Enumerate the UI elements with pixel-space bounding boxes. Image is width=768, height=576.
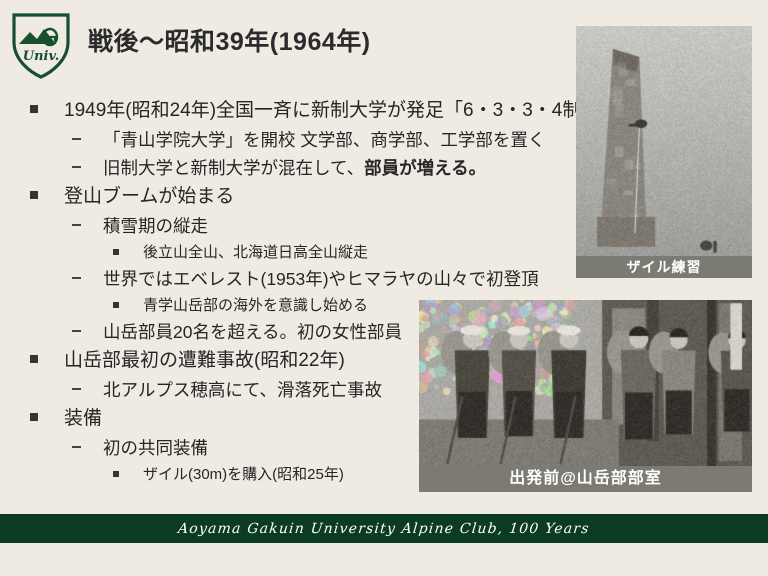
square-marker-icon bbox=[30, 96, 64, 126]
bullet-text: 世界ではエベレスト(1953年)やヒマラヤの山々で初登頂 bbox=[103, 265, 539, 293]
square-marker-icon bbox=[113, 240, 143, 265]
figure-caption-rope-practice: ザイル練習 bbox=[576, 256, 752, 278]
square-marker-icon bbox=[30, 404, 64, 434]
dash-marker-icon bbox=[72, 376, 103, 404]
page-title: 戦後～昭和39年(1964年) bbox=[88, 22, 371, 58]
bullet-text: ザイル(30m)を購入(昭和25年) bbox=[143, 462, 344, 487]
bullet-text: 装備 bbox=[64, 404, 102, 434]
bullet-item-l1: 1949年(昭和24年)全国一斉に新制大学が発足「6・3・3・4制」 bbox=[30, 96, 590, 126]
square-marker-icon bbox=[113, 462, 143, 487]
bullet-text: 後立山全山、北海道日高全山縦走 bbox=[143, 240, 368, 265]
bullet-text: 北アルプス穂高にて、滑落死亡事故 bbox=[103, 376, 382, 404]
dash-marker-icon bbox=[72, 154, 103, 182]
bullet-text: 初の共同装備 bbox=[103, 434, 208, 462]
bullet-text: 1949年(昭和24年)全国一斉に新制大学が発足「6・3・3・4制」 bbox=[64, 96, 600, 126]
bullet-text: 山岳部員20名を超える。初の女性部員 bbox=[103, 318, 402, 346]
dash-marker-icon bbox=[72, 318, 103, 346]
footer-text: Aoyama Gakuin University Alpine Club, 10… bbox=[177, 521, 590, 537]
figure-rope-practice: ザイル練習 bbox=[576, 26, 752, 278]
bullet-text: 「青山学院大学」を開校 文学部、商学部、工学部を置く bbox=[103, 126, 545, 154]
square-marker-icon bbox=[30, 346, 64, 376]
bullet-text: 旧制大学と新制大学が混在して、部員が増える。 bbox=[103, 154, 486, 182]
figure-caption-before-departure: 出発前@山岳部部室 bbox=[419, 466, 752, 492]
figure-before-departure: 出発前@山岳部部室 bbox=[419, 300, 752, 492]
bullet-text: 登山ブームが始まる bbox=[64, 182, 234, 212]
bullet-text: 積雪期の縦走 bbox=[103, 212, 208, 240]
bullet-text-emphasis: 部員が増える。 bbox=[364, 158, 486, 178]
photo-before-departure bbox=[419, 300, 752, 466]
footer-band: Aoyama Gakuin University Alpine Club, 10… bbox=[0, 514, 768, 543]
shield-icon: Univ. bbox=[10, 10, 72, 80]
bullet-item-l1: 登山ブームが始まる bbox=[30, 182, 590, 212]
bullet-text: 青学山岳部の海外を意識し始める bbox=[143, 293, 368, 318]
photo-rope-practice bbox=[576, 26, 752, 256]
bullet-text: 山岳部最初の遭難事故(昭和22年) bbox=[64, 346, 345, 376]
bullet-item-l2: 旧制大学と新制大学が混在して、部員が増える。 bbox=[30, 154, 590, 182]
bullet-item-l2: 積雪期の縦走 bbox=[30, 212, 590, 240]
slide: Univ. 戦後～昭和39年(1964年) 1949年(昭和24年)全国一斉に新… bbox=[0, 0, 768, 576]
bullet-item-l2: 世界ではエベレスト(1953年)やヒマラヤの山々で初登頂 bbox=[30, 265, 590, 293]
square-marker-icon bbox=[30, 182, 64, 212]
dash-marker-icon bbox=[72, 212, 103, 240]
shield-sub-text: Univ. bbox=[23, 49, 60, 64]
bullet-item-l3: 後立山全山、北海道日高全山縦走 bbox=[30, 240, 590, 265]
dash-marker-icon bbox=[72, 265, 103, 293]
square-marker-icon bbox=[113, 293, 143, 318]
dash-marker-icon bbox=[72, 434, 103, 462]
dash-marker-icon bbox=[72, 126, 103, 154]
club-shield-logo: Univ. bbox=[10, 10, 72, 80]
bullet-item-l2: 「青山学院大学」を開校 文学部、商学部、工学部を置く bbox=[30, 126, 590, 154]
